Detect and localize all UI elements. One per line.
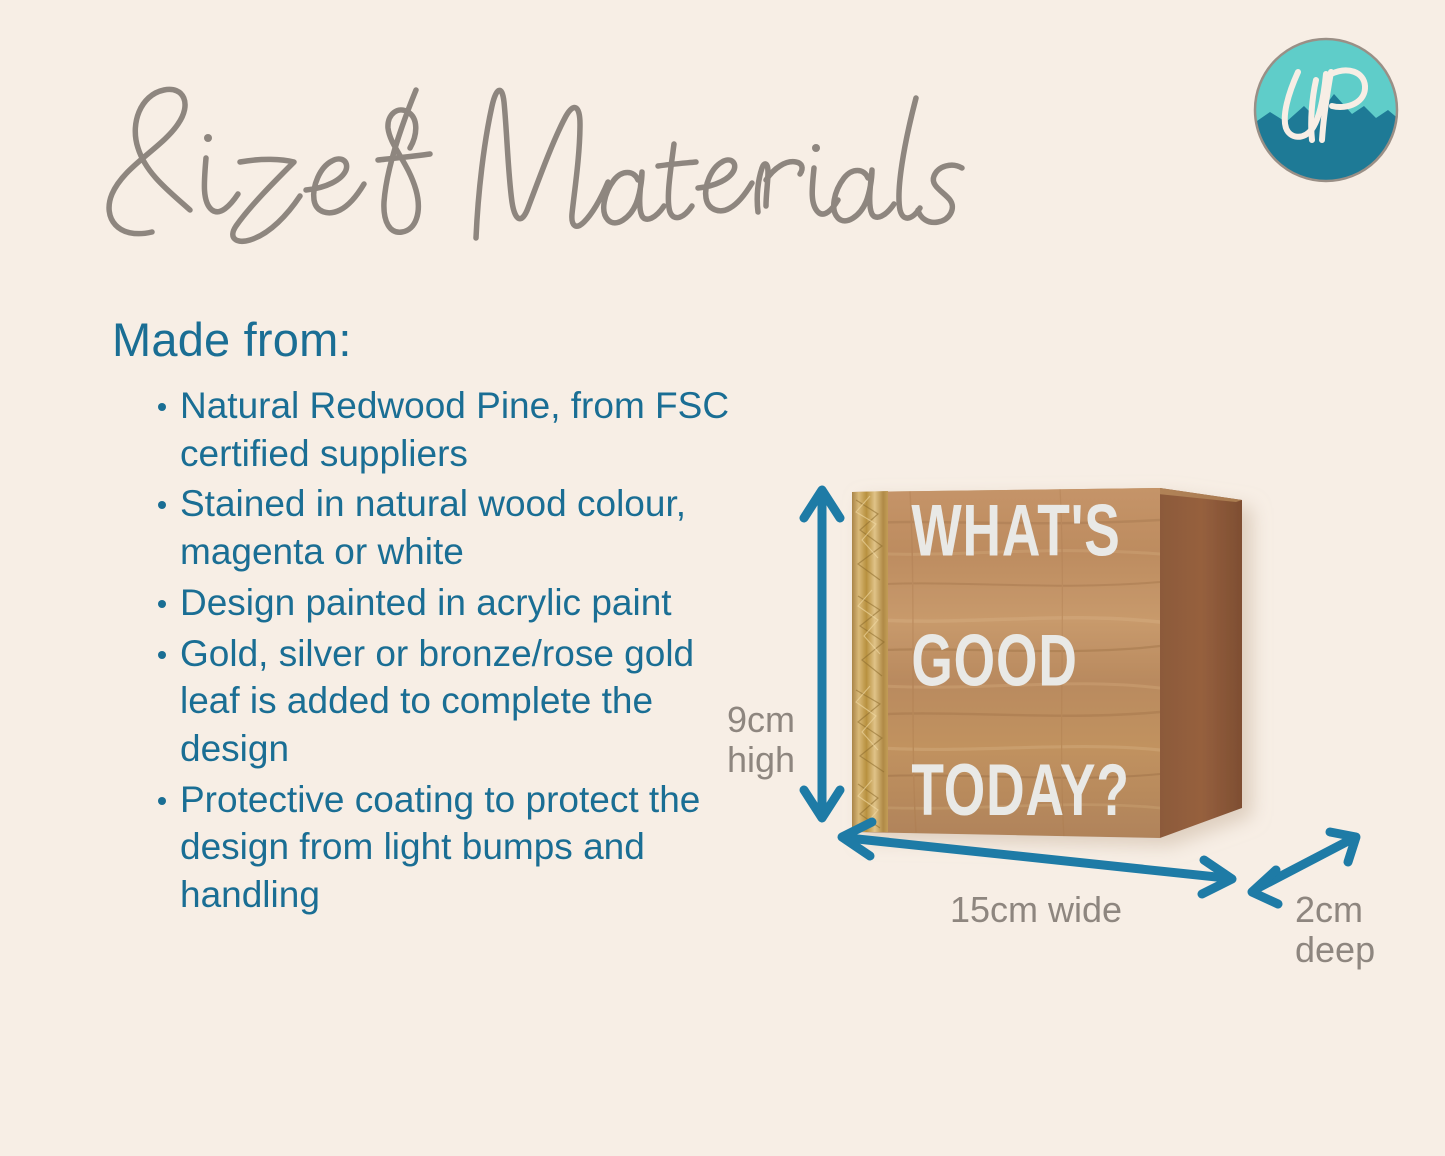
- sign-line-3: TODAY?: [911, 749, 1129, 831]
- materials-list: Natural Redwood Pine, from FSC certified…: [152, 382, 752, 922]
- list-item: Stained in natural wood colour, magenta …: [152, 480, 752, 575]
- width-label: 15cm wide: [950, 890, 1122, 930]
- list-item: Gold, silver or bronze/rose gold leaf is…: [152, 630, 752, 773]
- depth-label: 2cm deep: [1295, 890, 1375, 971]
- page-title-script-lettering: [78, 62, 978, 252]
- made-from-heading: Made from:: [112, 312, 352, 367]
- block-right-edge: [1160, 488, 1242, 838]
- height-arrow: [804, 490, 840, 818]
- up-logo: [1252, 36, 1400, 184]
- height-label: 9cm high: [727, 700, 795, 781]
- wooden-block: WHAT'S GOOD TODAY?: [852, 488, 1242, 838]
- list-item: Protective coating to protect the design…: [152, 776, 752, 919]
- list-item: Design painted in acrylic paint: [152, 579, 752, 627]
- page-title: [78, 62, 978, 252]
- list-item: Natural Redwood Pine, from FSC certified…: [152, 382, 752, 477]
- product-info-slide: Made from: Natural Redwood Pine, from FS…: [0, 0, 1445, 1156]
- sign-line-1: WHAT'S: [911, 489, 1120, 571]
- sign-line-2: GOOD: [911, 619, 1077, 701]
- gold-leaf-strip: [852, 488, 890, 836]
